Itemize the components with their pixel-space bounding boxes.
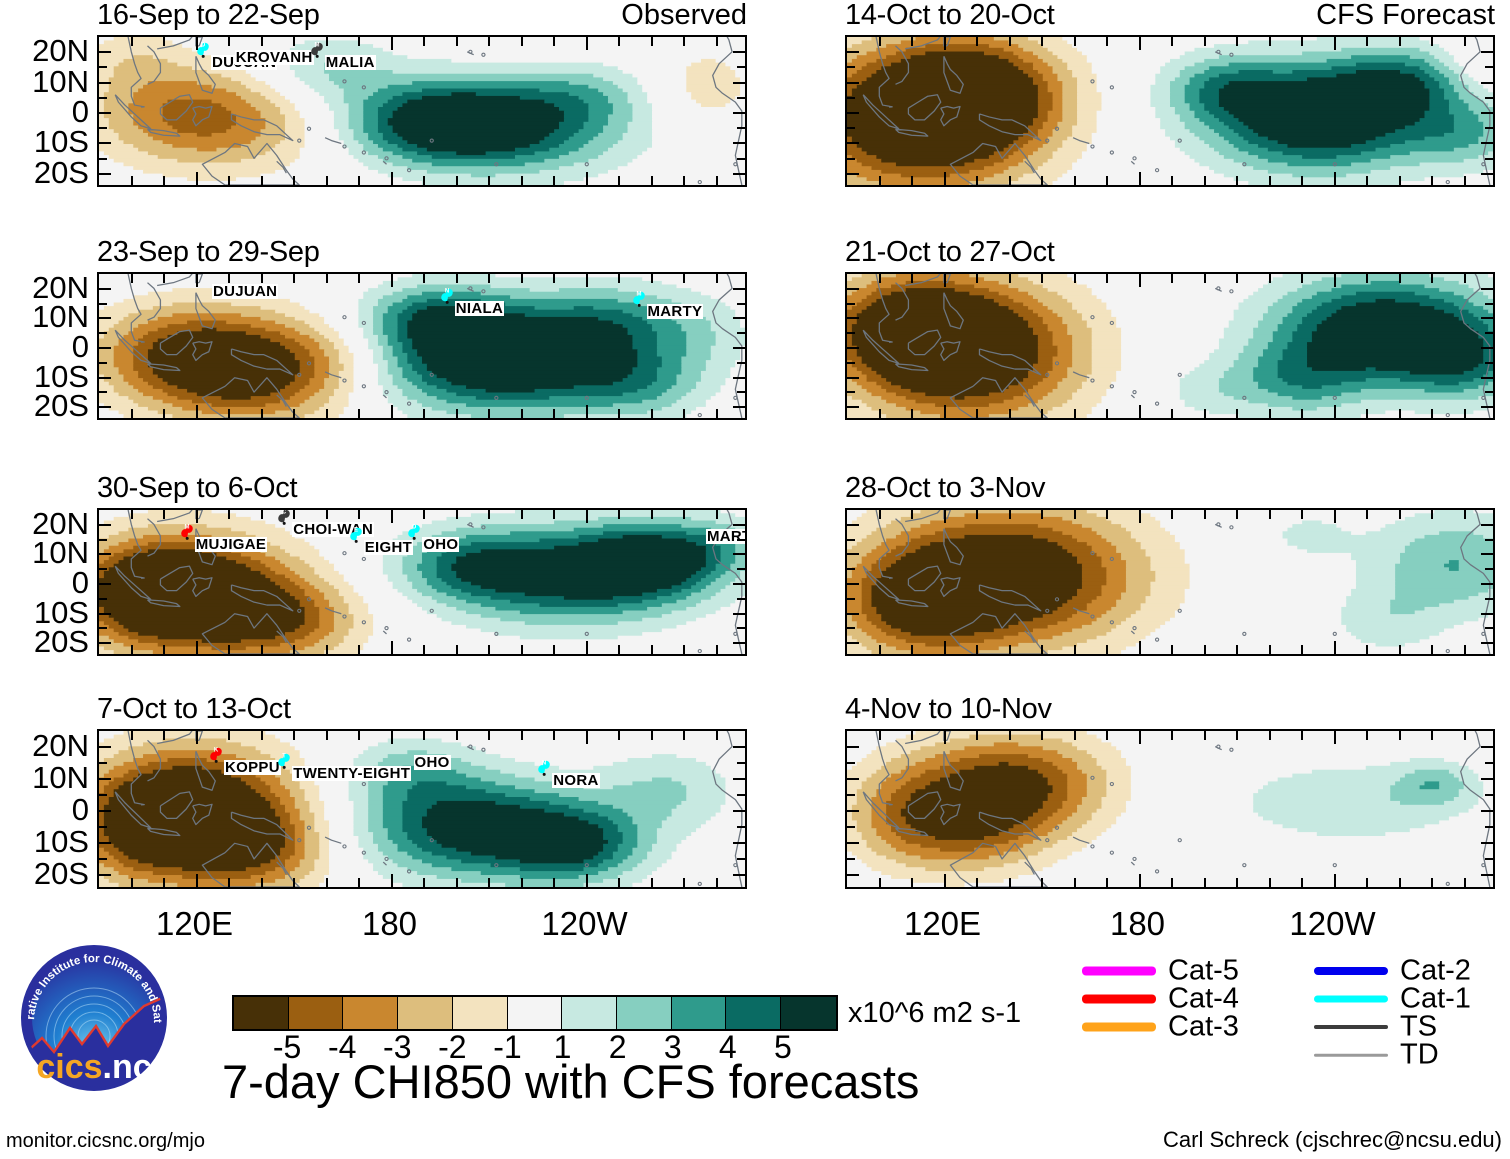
- axis-tick: [261, 878, 263, 887]
- axis-tick: [1366, 510, 1368, 519]
- axis-tick: [911, 409, 913, 418]
- axis-tick: [716, 274, 718, 283]
- contour-field: [847, 510, 1493, 654]
- axis-tick: [1074, 645, 1076, 654]
- axis-tick: [293, 409, 295, 418]
- panel-title: 4-Nov to 10-Nov: [845, 695, 1052, 724]
- svg-text:E: E: [354, 527, 358, 533]
- colorbar-units: x10^6 m2 s-1: [848, 999, 1021, 1028]
- axis-tick: [716, 510, 718, 519]
- axis-tick: [228, 878, 230, 887]
- axis-tick: [976, 510, 978, 519]
- axis-tick: [1171, 645, 1173, 654]
- contour-field: [99, 274, 745, 418]
- axis-tick: [196, 274, 198, 287]
- axis-tick: [228, 731, 230, 740]
- axis-tick: [293, 274, 295, 283]
- axis-tick: [521, 409, 523, 418]
- svg-text:M: M: [184, 524, 189, 530]
- storm-label: KROVANH: [235, 50, 314, 65]
- axis-tick: [618, 409, 620, 418]
- axis-tick: [847, 794, 855, 796]
- legend-label: TS: [1400, 1013, 1437, 1042]
- axis-tick: [1041, 274, 1043, 283]
- axis-tick: [1074, 274, 1076, 283]
- axis-tick: [1106, 731, 1108, 740]
- axis-tick: [99, 158, 107, 160]
- axis-tick: [1301, 176, 1303, 185]
- axis-tick: [99, 762, 107, 764]
- axis-tick: [618, 731, 620, 740]
- axis-tick: [1481, 406, 1493, 408]
- axis-tick: [423, 409, 425, 418]
- axis-tick: [976, 731, 978, 740]
- axis-tick: [131, 409, 133, 418]
- axis-tick: [488, 645, 490, 654]
- column-header: Observed: [621, 1, 747, 30]
- axis-tick: [131, 731, 133, 740]
- axis-tick: [1481, 874, 1493, 876]
- axis-tick: [99, 598, 107, 600]
- axis-tick: [553, 37, 555, 46]
- storm-label: DUJUAN: [212, 284, 278, 299]
- axis-tick: [1431, 731, 1433, 740]
- axis-tick: [1481, 142, 1493, 144]
- axis-tick: [1204, 878, 1206, 887]
- axis-tick: [553, 731, 555, 740]
- axis-tick: [586, 731, 588, 744]
- storm-symbol-icon: M: [308, 39, 326, 59]
- axis-tick: [456, 510, 458, 519]
- axis-tick: [1399, 645, 1401, 654]
- axis-tick: [293, 176, 295, 185]
- svg-text:O: O: [412, 524, 417, 530]
- main-title: 7-day CHI850 with CFS forecasts: [222, 1058, 919, 1105]
- storm-label: MARTY: [647, 304, 704, 319]
- axis-tick: [618, 176, 620, 185]
- axis-tick: [261, 37, 263, 46]
- axis-tick: [1481, 377, 1493, 379]
- axis-tick: [99, 303, 107, 305]
- axis-tick: [1236, 409, 1238, 418]
- axis-tick: [737, 858, 745, 860]
- axis-tick: [1431, 510, 1433, 519]
- axis-tick: [737, 762, 745, 764]
- axis-tick: [1399, 878, 1401, 887]
- axis-tick: [1269, 878, 1271, 887]
- colorbar-cell: [453, 997, 508, 1029]
- axis-tick: [847, 377, 859, 379]
- colorbar: [232, 995, 838, 1031]
- axis-tick: [586, 510, 588, 523]
- axis-tick: [99, 406, 111, 408]
- axis-tick: [1204, 274, 1206, 283]
- axis-tick: [847, 288, 859, 290]
- axis-tick: [1485, 391, 1493, 393]
- axis-tick: [847, 173, 859, 175]
- axis-tick: [1431, 409, 1433, 418]
- y-axis-label: 0: [5, 567, 89, 598]
- axis-tick: [1074, 731, 1076, 740]
- axis-tick: [553, 510, 555, 519]
- axis-tick: [1041, 731, 1043, 740]
- axis-tick: [1485, 127, 1493, 129]
- storm-symbol-icon: K: [207, 744, 225, 764]
- axis-tick: [326, 37, 328, 46]
- axis-tick: [99, 377, 111, 379]
- axis-tick: [1041, 510, 1043, 519]
- map-area: KKOPPUTTWENTY-EIGHTOHONNORA: [97, 729, 747, 889]
- svg-text:T: T: [282, 754, 286, 760]
- axis-tick: [1171, 37, 1173, 46]
- axis-tick: [391, 274, 393, 287]
- panel-title: 7-Oct to 13-Oct: [97, 695, 291, 724]
- axis-tick: [847, 874, 859, 876]
- axis-tick: [1009, 878, 1011, 887]
- axis-tick: [99, 362, 107, 364]
- axis-tick: [1236, 37, 1238, 46]
- axis-tick: [163, 409, 165, 418]
- axis-tick: [163, 176, 165, 185]
- cics-nc-logo[interactable]: Cooperative Institute for Climate and Sa…: [12, 940, 176, 1100]
- axis-tick: [1236, 878, 1238, 887]
- axis-tick: [1204, 510, 1206, 519]
- axis-tick: [1481, 524, 1493, 526]
- axis-tick: [733, 613, 745, 615]
- axis-tick: [131, 645, 133, 654]
- author-credit: Carl Schreck (cjschrec@ncsu.edu): [1163, 1129, 1502, 1151]
- axis-tick: [1009, 645, 1011, 654]
- axis-tick: [99, 874, 111, 876]
- axis-tick: [847, 303, 855, 305]
- axis-tick: [733, 142, 745, 144]
- storm-label: MALIA: [325, 55, 376, 70]
- axis-tick: [683, 878, 685, 887]
- axis-tick: [586, 172, 588, 185]
- axis-tick: [1301, 37, 1303, 46]
- axis-tick: [1041, 37, 1043, 46]
- storm-symbol-icon: M: [630, 288, 648, 308]
- axis-tick: [1431, 645, 1433, 654]
- axis-tick: [879, 37, 881, 46]
- storm-label: OHO: [414, 755, 451, 770]
- axis-tick: [456, 176, 458, 185]
- axis-tick: [261, 731, 263, 740]
- axis-tick: [1366, 878, 1368, 887]
- axis-tick: [847, 317, 859, 319]
- storm-symbol-icon: E: [347, 524, 365, 544]
- axis-tick: [911, 176, 913, 185]
- axis-tick: [733, 406, 745, 408]
- axis-tick: [1485, 303, 1493, 305]
- svg-text:N: N: [445, 288, 449, 294]
- axis-tick: [228, 37, 230, 46]
- y-axis-label: 10N: [5, 66, 89, 97]
- svg-text:cics.nc: cics.nc: [36, 1048, 151, 1086]
- axis-tick: [716, 176, 718, 185]
- y-axis-label: 10S: [5, 126, 89, 157]
- axis-tick: [1236, 645, 1238, 654]
- axis-tick: [1301, 274, 1303, 283]
- axis-tick: [1481, 642, 1493, 644]
- axis-tick: [716, 409, 718, 418]
- panel-3: 30-Sep to 6-OctMMUJIGAECCHOI-WANEEIGHTOO…: [97, 508, 747, 656]
- colorbar-cell: [726, 997, 781, 1029]
- axis-tick: [737, 127, 745, 129]
- axis-tick: [1485, 762, 1493, 764]
- axis-tick: [358, 409, 360, 418]
- storm-symbol-icon: T: [275, 750, 293, 770]
- panel-title: 23-Sep to 29-Sep: [97, 238, 320, 267]
- axis-tick: [1139, 274, 1141, 287]
- axis-tick: [326, 878, 328, 887]
- axis-tick: [847, 332, 855, 334]
- x-axis-label: 120W: [541, 907, 627, 940]
- axis-tick: [651, 510, 653, 519]
- axis-tick: [1485, 568, 1493, 570]
- axis-tick: [521, 274, 523, 283]
- axis-tick: [1481, 842, 1493, 844]
- axis-tick: [1431, 274, 1433, 283]
- axis-tick: [1366, 731, 1368, 740]
- axis-tick: [1485, 794, 1493, 796]
- axis-tick: [261, 510, 263, 519]
- axis-tick: [326, 645, 328, 654]
- colorbar-cell: [617, 997, 672, 1029]
- axis-tick: [488, 731, 490, 740]
- axis-tick: [847, 112, 859, 114]
- axis-tick: [391, 641, 393, 654]
- axis-tick: [488, 510, 490, 519]
- axis-tick: [1334, 731, 1336, 744]
- axis-tick: [1204, 645, 1206, 654]
- axis-tick: [1074, 37, 1076, 46]
- axis-tick: [1334, 37, 1336, 50]
- legend-label: Cat-5: [1168, 957, 1239, 986]
- site-url[interactable]: monitor.cicsnc.org/mjo: [6, 1131, 205, 1151]
- panel-5: 14-Oct to 20-OctCFS Forecast: [845, 35, 1495, 187]
- axis-tick: [651, 37, 653, 46]
- axis-tick: [99, 627, 107, 629]
- axis-tick: [1139, 641, 1141, 654]
- axis-tick: [847, 826, 855, 828]
- axis-tick: [99, 842, 111, 844]
- axis-tick: [261, 176, 263, 185]
- storm-symbol-icon: N: [535, 757, 553, 777]
- svg-text:M: M: [636, 291, 641, 297]
- axis-tick: [847, 613, 859, 615]
- axis-tick: [737, 66, 745, 68]
- axis-tick: [391, 510, 393, 523]
- axis-tick: [1301, 645, 1303, 654]
- axis-tick: [99, 794, 107, 796]
- axis-tick: [1481, 810, 1493, 812]
- storm-symbol-icon: O: [405, 521, 423, 541]
- axis-tick: [163, 274, 165, 283]
- svg-text:K: K: [214, 747, 219, 753]
- axis-tick: [1485, 362, 1493, 364]
- axis-tick: [228, 409, 230, 418]
- axis-tick: [358, 645, 360, 654]
- axis-tick: [99, 583, 111, 585]
- axis-tick: [1269, 37, 1271, 46]
- axis-tick: [131, 878, 133, 887]
- axis-tick: [99, 568, 107, 570]
- colorbar-cell: [234, 997, 289, 1029]
- storm-label: OHO: [422, 537, 459, 552]
- axis-tick: [847, 82, 859, 84]
- storm-symbol-icon: E: [347, 524, 365, 544]
- axis-tick: [163, 510, 165, 519]
- axis-tick: [1431, 37, 1433, 46]
- y-axis-label: 10N: [5, 301, 89, 332]
- axis-tick: [737, 627, 745, 629]
- svg-text:M: M: [314, 43, 319, 49]
- contour-field: [847, 274, 1493, 418]
- axis-tick: [733, 82, 745, 84]
- axis-tick: [879, 274, 881, 283]
- axis-tick: [847, 142, 859, 144]
- axis-tick: [1481, 288, 1493, 290]
- axis-tick: [326, 510, 328, 519]
- axis-tick: [733, 112, 745, 114]
- axis-tick: [228, 645, 230, 654]
- axis-tick: [976, 37, 978, 46]
- axis-tick: [716, 645, 718, 654]
- x-axis-label: 120E: [904, 907, 981, 940]
- axis-tick: [847, 762, 855, 764]
- axis-tick: [911, 274, 913, 283]
- storm-label: NIALA: [455, 301, 504, 316]
- axis-tick: [261, 409, 263, 418]
- axis-tick: [1074, 176, 1076, 185]
- storm-symbol-icon: C: [275, 508, 293, 526]
- axis-tick: [683, 37, 685, 46]
- axis-tick: [1481, 347, 1493, 349]
- axis-tick: [1204, 176, 1206, 185]
- axis-tick: [131, 37, 133, 46]
- axis-tick: [1334, 172, 1336, 185]
- axis-tick: [261, 645, 263, 654]
- axis-tick: [1399, 409, 1401, 418]
- axis-tick: [944, 731, 946, 744]
- axis-tick: [651, 176, 653, 185]
- axis-tick: [847, 539, 855, 541]
- axis-tick: [1009, 176, 1011, 185]
- x-axis-label: 120E: [156, 907, 233, 940]
- axis-tick: [1236, 510, 1238, 519]
- axis-tick: [1171, 176, 1173, 185]
- axis-tick: [1204, 731, 1206, 740]
- axis-tick: [733, 51, 745, 53]
- axis-tick: [391, 172, 393, 185]
- axis-tick: [1301, 510, 1303, 519]
- axis-tick: [976, 274, 978, 283]
- axis-tick: [1334, 874, 1336, 887]
- axis-tick: [651, 274, 653, 283]
- axis-tick: [1074, 510, 1076, 519]
- axis-tick: [1481, 82, 1493, 84]
- axis-tick: [1464, 731, 1466, 740]
- axis-tick: [293, 37, 295, 46]
- axis-tick: [326, 176, 328, 185]
- axis-tick: [733, 874, 745, 876]
- axis-tick: [1399, 176, 1401, 185]
- colorbar-cell: [781, 997, 836, 1029]
- axis-tick: [99, 524, 111, 526]
- colorbar-cell: [672, 997, 727, 1029]
- axis-tick: [847, 778, 859, 780]
- axis-tick: [1009, 409, 1011, 418]
- axis-tick: [847, 810, 859, 812]
- axis-tick: [521, 645, 523, 654]
- axis-tick: [1139, 405, 1141, 418]
- axis-tick: [737, 158, 745, 160]
- figure-canvas: 16-Sep to 22-SepObservedDDUJUANKROVANHMM…: [0, 0, 1510, 1159]
- axis-tick: [733, 842, 745, 844]
- axis-tick: [1171, 878, 1173, 887]
- axis-tick: [586, 641, 588, 654]
- axis-tick: [553, 409, 555, 418]
- axis-tick: [196, 731, 198, 744]
- y-axis-label: 20S: [5, 157, 89, 188]
- panel-title: 28-Oct to 3-Nov: [845, 474, 1045, 503]
- legend-color-swatch: [1314, 1025, 1388, 1029]
- axis-tick: [847, 858, 855, 860]
- axis-tick: [358, 176, 360, 185]
- axis-tick: [1139, 37, 1141, 50]
- axis-tick: [553, 274, 555, 283]
- axis-tick: [879, 176, 881, 185]
- axis-tick: [99, 97, 107, 99]
- axis-tick: [879, 731, 881, 740]
- svg-text:D: D: [201, 43, 206, 49]
- legend-color-swatch: [1314, 996, 1388, 1003]
- axis-tick: [228, 510, 230, 519]
- axis-tick: [733, 347, 745, 349]
- storm-symbol-icon: T: [275, 750, 293, 770]
- axis-tick: [99, 746, 111, 748]
- axis-tick: [847, 362, 855, 364]
- axis-tick: [586, 405, 588, 418]
- axis-tick: [1074, 409, 1076, 418]
- axis-tick: [847, 553, 859, 555]
- axis-tick: [1236, 176, 1238, 185]
- axis-tick: [488, 274, 490, 283]
- axis-tick: [1485, 97, 1493, 99]
- axis-tick: [293, 645, 295, 654]
- colorbar-cell: [343, 997, 398, 1029]
- axis-tick: [1301, 409, 1303, 418]
- axis-tick: [1431, 176, 1433, 185]
- axis-tick: [1334, 510, 1336, 523]
- axis-tick: [847, 347, 859, 349]
- axis-tick: [847, 842, 859, 844]
- axis-tick: [99, 347, 111, 349]
- axis-tick: [196, 172, 198, 185]
- axis-tick: [358, 510, 360, 519]
- panel-title: 21-Oct to 27-Oct: [845, 238, 1055, 267]
- axis-tick: [1204, 37, 1206, 46]
- axis-tick: [488, 409, 490, 418]
- axis-tick: [911, 510, 913, 519]
- axis-tick: [131, 176, 133, 185]
- axis-tick: [1171, 409, 1173, 418]
- axis-tick: [99, 82, 111, 84]
- axis-tick: [683, 176, 685, 185]
- map-area: [845, 272, 1495, 420]
- legend-label: TD: [1400, 1041, 1439, 1070]
